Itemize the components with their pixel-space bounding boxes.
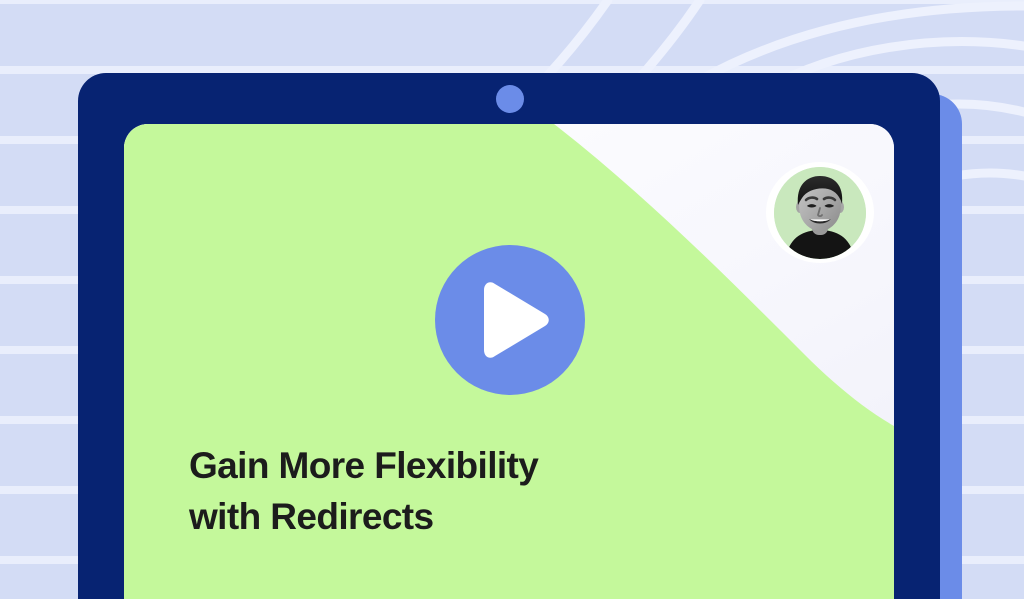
avatar-photo bbox=[774, 167, 866, 259]
play-triangle-icon bbox=[476, 280, 552, 360]
video-title-line-2: with Redirects bbox=[189, 491, 709, 542]
avatar-portrait-illustration bbox=[774, 167, 866, 259]
play-button[interactable] bbox=[435, 245, 585, 395]
laptop-screen[interactable]: Gain More Flexibility with Redirects bbox=[124, 124, 894, 599]
webcam-icon bbox=[496, 85, 524, 113]
video-title-line-1: Gain More Flexibility bbox=[189, 440, 709, 491]
video-thumbnail-stage: Gain More Flexibility with Redirects bbox=[0, 0, 1024, 599]
presenter-avatar[interactable] bbox=[766, 162, 874, 263]
video-title: Gain More Flexibility with Redirects bbox=[189, 440, 709, 542]
